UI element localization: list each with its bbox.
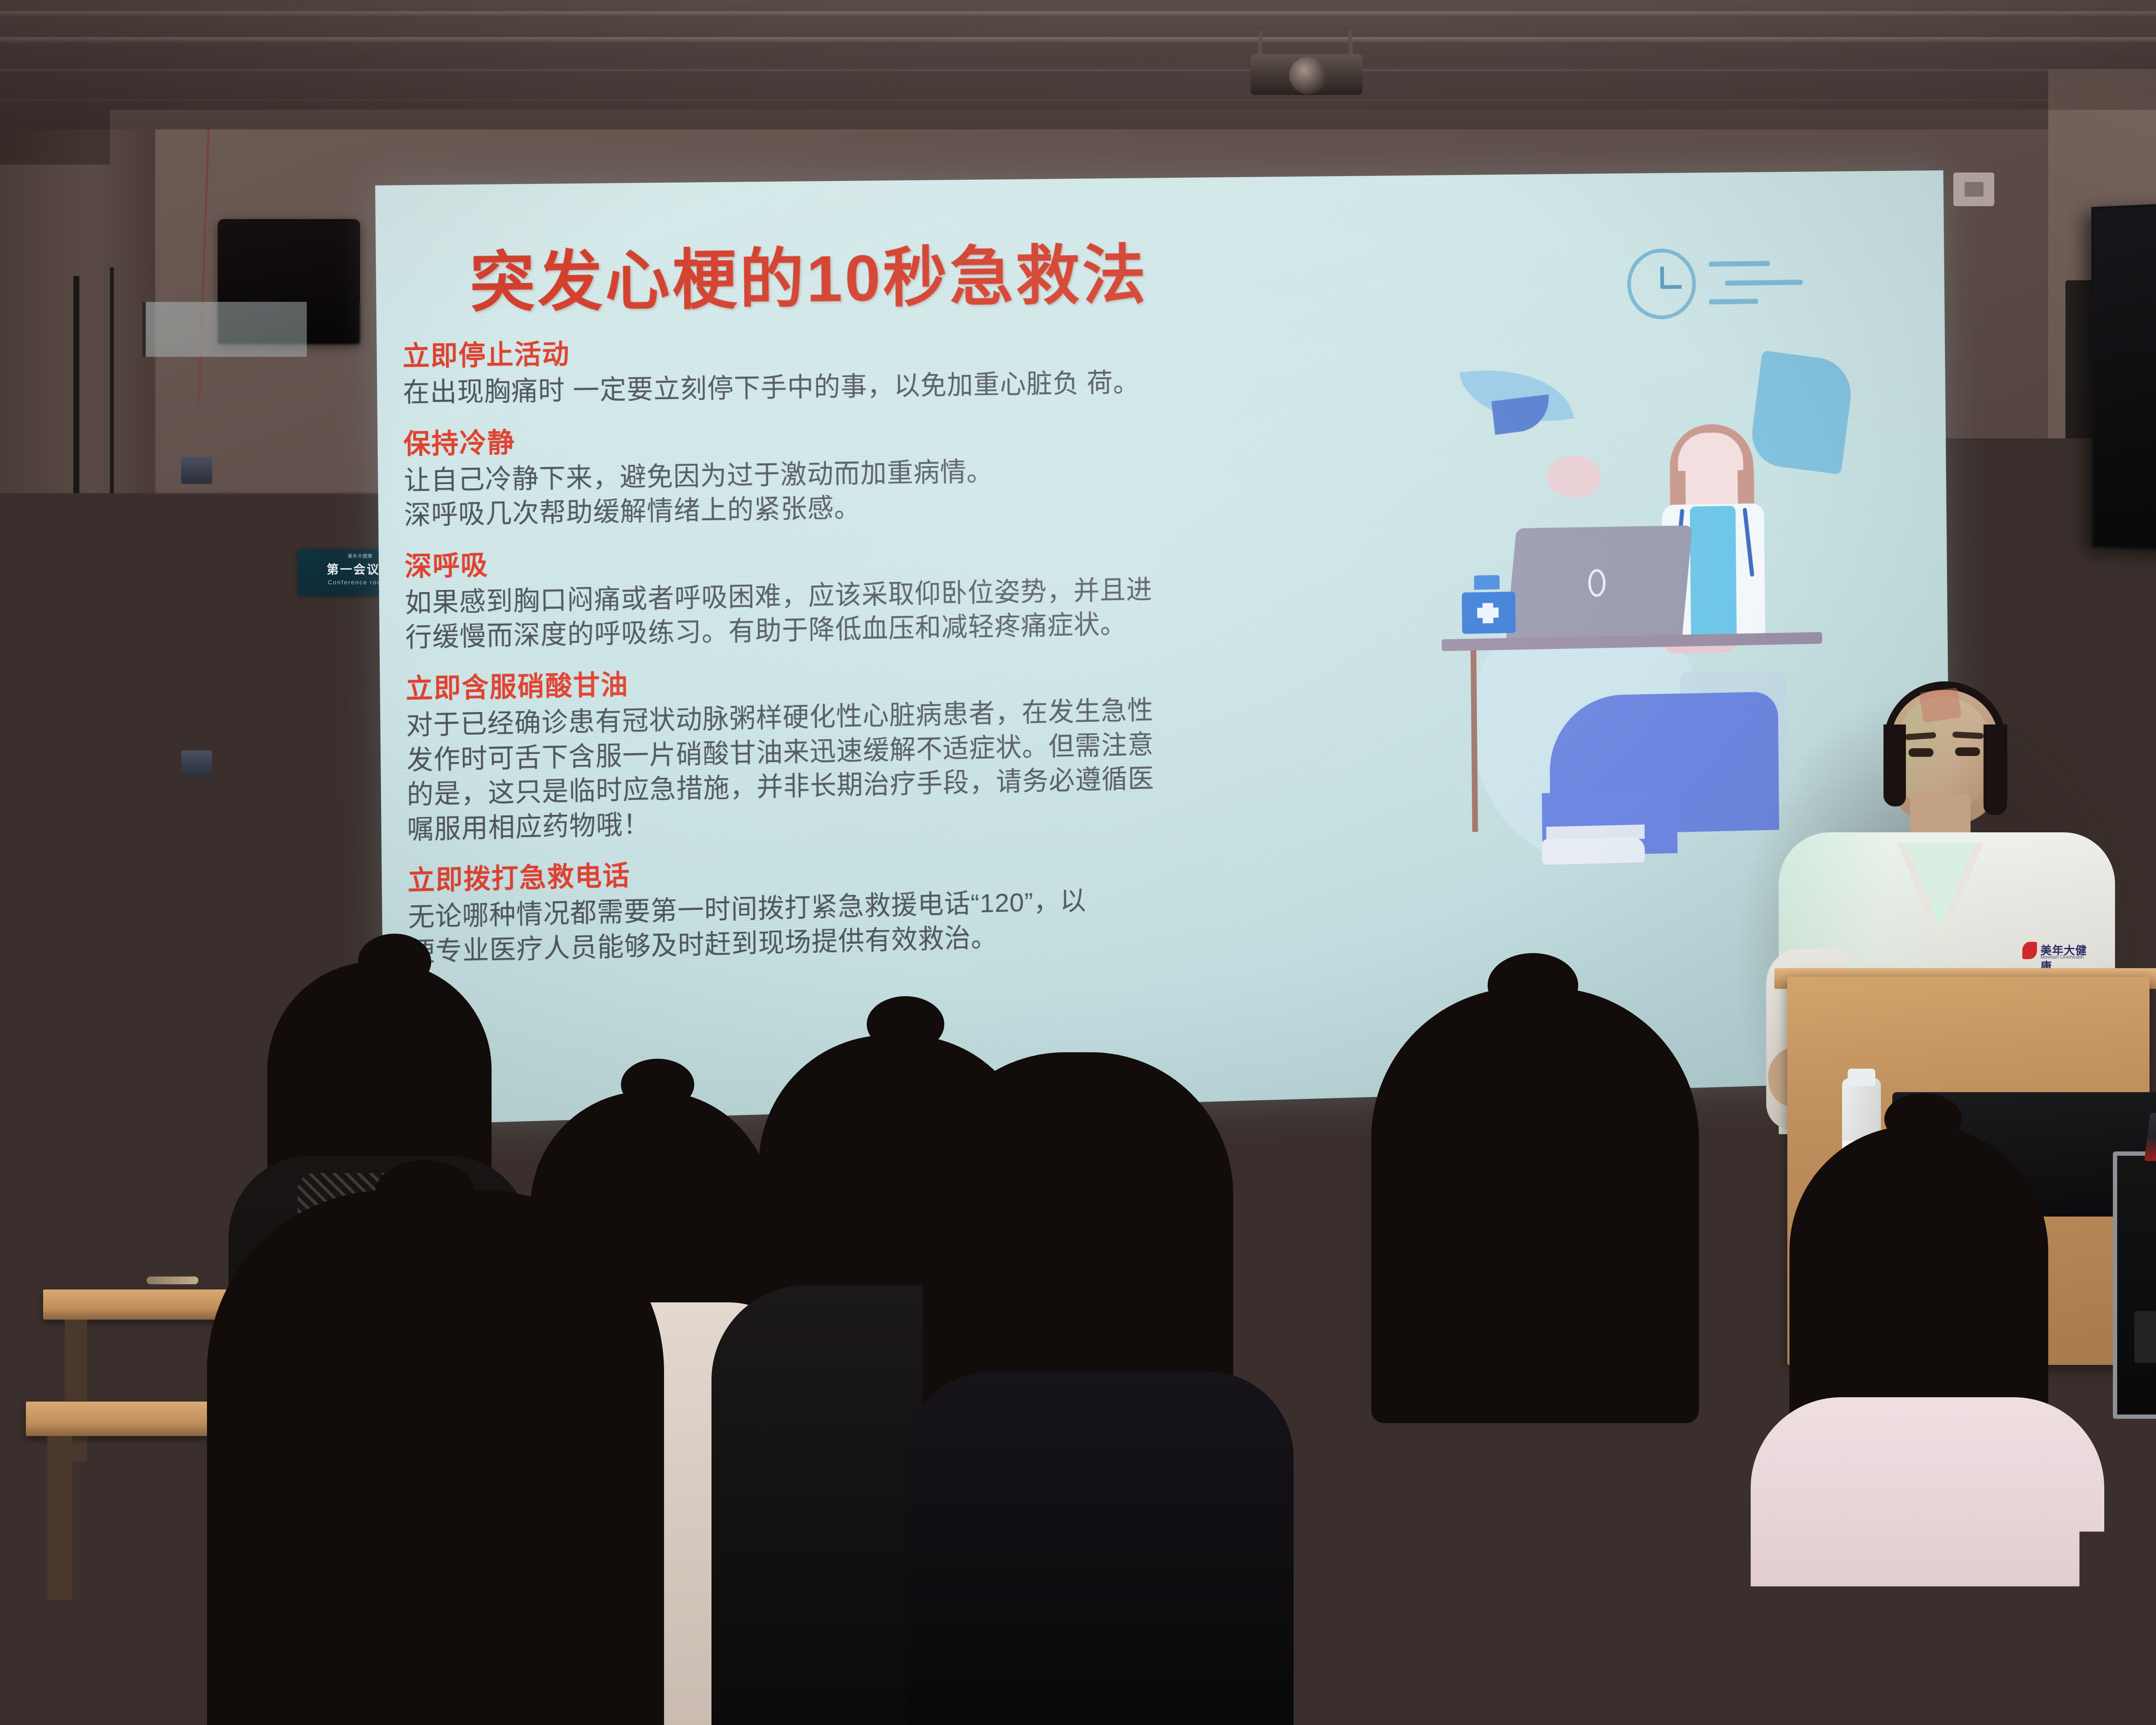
bottle-cap bbox=[1848, 1069, 1875, 1086]
slide-body: 立即停止活动 在出现胸痛时 一定要立刻停下手中的事，以免加重心脏负 荷。 保持冷… bbox=[402, 311, 1387, 970]
wall-socket-icon bbox=[1953, 172, 1994, 206]
laptop-logo-icon bbox=[1588, 569, 1606, 597]
doctor-head bbox=[1678, 432, 1744, 513]
door-handle[interactable] bbox=[147, 1276, 198, 1284]
uniform-logo-subtext: Meinian Onehealth bbox=[2040, 954, 2084, 960]
door-hinge bbox=[181, 750, 212, 777]
desk-leg bbox=[47, 1436, 72, 1600]
dash-line bbox=[1709, 299, 1758, 304]
leaf-shape-accent bbox=[1492, 394, 1552, 435]
clock-icon bbox=[1627, 248, 1696, 320]
hair bbox=[1371, 988, 1699, 1423]
dash-line bbox=[1725, 280, 1802, 286]
door-frame bbox=[110, 267, 114, 1320]
speaker-eye bbox=[1908, 748, 1934, 757]
ceiling-projector bbox=[1242, 30, 1371, 103]
projection-stripe bbox=[1919, 687, 1962, 723]
uniform-logo: 美年大健康 Meinian Onehealth bbox=[2022, 940, 2096, 963]
ceiling bbox=[0, 0, 2156, 129]
door-frame bbox=[73, 276, 79, 1320]
audio-rack-case bbox=[2113, 1151, 2156, 1419]
leaf-shape bbox=[1748, 350, 1855, 474]
ceiling-panel-line bbox=[0, 99, 2156, 101]
doctor-scrub bbox=[1690, 506, 1737, 637]
hair bbox=[207, 1190, 664, 1725]
ceiling-rail bbox=[0, 37, 2156, 43]
wall-mounted-display bbox=[2091, 182, 2156, 574]
door-hinge bbox=[181, 457, 212, 484]
speaker-eye bbox=[1955, 747, 1980, 756]
rack-unit bbox=[2134, 1311, 2156, 1363]
brand-mark-icon bbox=[2022, 942, 2037, 959]
lecture-room-photo: 美年大健康 第一会议室 Conference room I 突发心梗的10秒急救… bbox=[0, 0, 2156, 1725]
blob-shape bbox=[1547, 455, 1601, 499]
ceiling-rail bbox=[0, 11, 2156, 17]
medical-kit-handle bbox=[1474, 575, 1499, 590]
ceiling-panel-line bbox=[0, 69, 2156, 71]
hair-clip bbox=[388, 1016, 453, 1054]
medical-kit-icon bbox=[1462, 592, 1516, 634]
patient-shoe bbox=[1542, 837, 1645, 865]
dash-line bbox=[1709, 261, 1770, 267]
speaker-hair-side bbox=[1883, 724, 1906, 806]
projection-screen: 突发心梗的10秒急救法 立即停止活动 在出现胸痛时 一定要立刻停下手中的事，以免… bbox=[375, 170, 1952, 1125]
projector-lens-icon bbox=[1289, 57, 1326, 94]
speaker-hair-side bbox=[1984, 724, 2007, 815]
desk-leg-shape bbox=[1470, 650, 1478, 832]
